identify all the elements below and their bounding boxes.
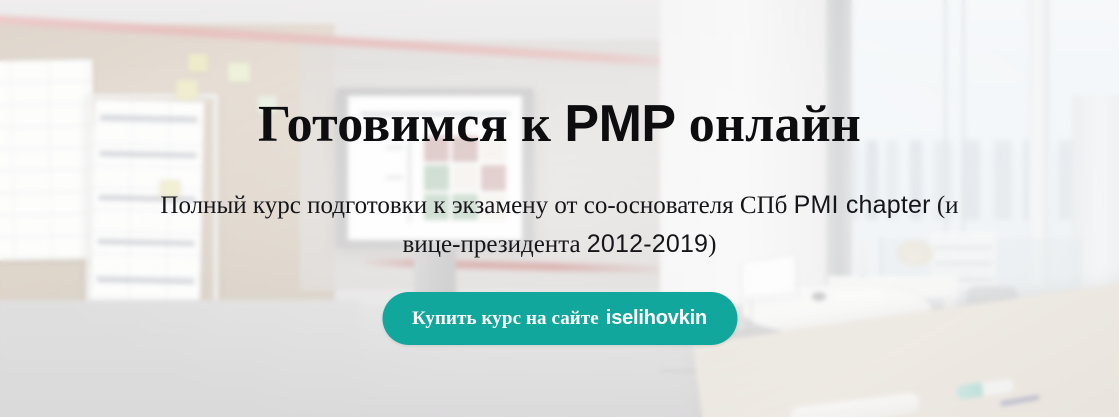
subtitle-years: 2012-2019 bbox=[587, 230, 708, 258]
subtitle-pmi-chapter: PMI chapter bbox=[794, 191, 931, 219]
buy-course-button[interactable]: Купить курс на сайтеiselihovkin bbox=[382, 292, 737, 345]
page-title-part-2: онлайн bbox=[676, 96, 861, 153]
buy-course-button-label: Купить курс на сайте bbox=[412, 308, 599, 330]
page-title-acronym: PMP bbox=[564, 95, 675, 153]
buy-course-button-brand: iselihovkin bbox=[606, 307, 707, 330]
promo-banner: Готовимся к PMP онлайн Полный курс подго… bbox=[0, 0, 1119, 417]
page-subtitle: Полный курс подготовки к экзамену от со-… bbox=[160, 186, 960, 264]
subtitle-line-1: Полный курс подготовки к экзамену от со-… bbox=[160, 192, 787, 219]
subtitle-line-2-part-2: ) bbox=[708, 231, 716, 258]
page-title-part-1: Готовимся к bbox=[258, 96, 564, 153]
page-title: Готовимся к PMP онлайн bbox=[0, 97, 1119, 152]
banner-content: Готовимся к PMP онлайн Полный курс подго… bbox=[0, 0, 1119, 417]
